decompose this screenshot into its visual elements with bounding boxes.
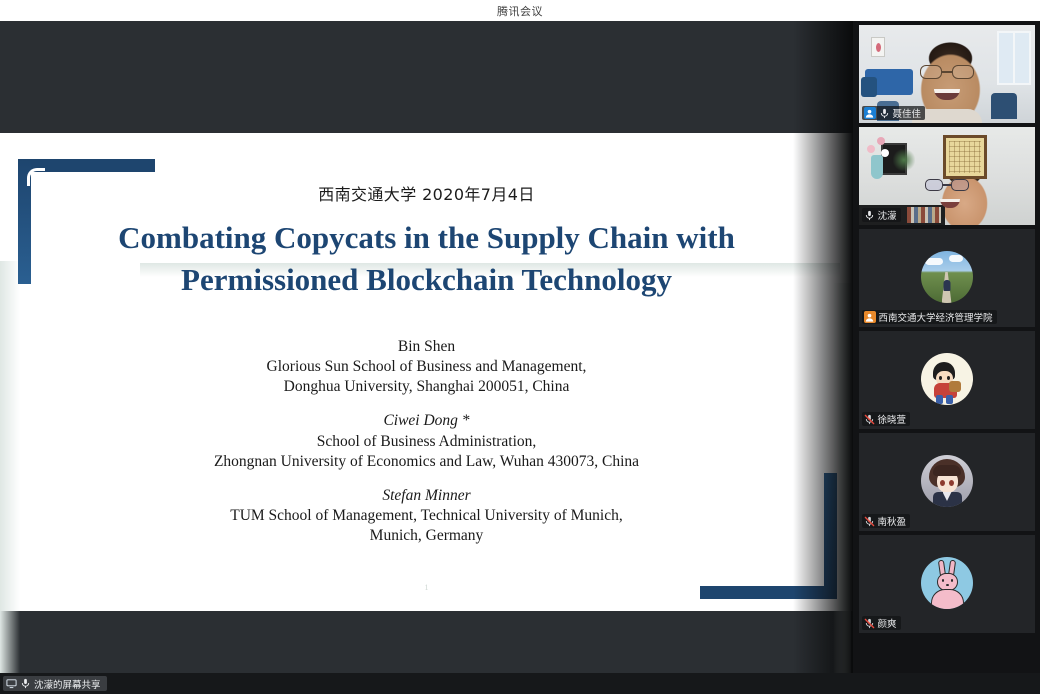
- status-bar: 沈濛的屏幕共享: [0, 673, 1040, 694]
- participant-tile[interactable]: 聂佳佳: [859, 25, 1035, 123]
- screen-share-label: 沈濛的屏幕共享: [34, 677, 101, 691]
- participant-tile[interactable]: 南秋盈: [859, 433, 1035, 531]
- author-name: Stefan Minner: [40, 486, 813, 506]
- participant-video-rail[interactable]: 聂佳佳 沈濛: [853, 21, 1040, 673]
- slide-title-line-2: Permissioned Blockchain Technology: [60, 259, 793, 301]
- slide-date-line: 西南交通大学 2020年7月4日: [0, 181, 853, 205]
- participant-nameplate: 徐晓萱: [862, 412, 911, 426]
- microphone-icon: [864, 210, 875, 221]
- screen-share-icon: [6, 678, 17, 689]
- person-icon: [864, 107, 876, 119]
- participant-tile[interactable]: 颜爽: [859, 535, 1035, 633]
- shared-screen-stage[interactable]: 西南交通大学 2020年7月4日 Combating Copycats in t…: [0, 21, 853, 673]
- microphone-muted-icon: [864, 516, 875, 527]
- meeting-window: 腾讯会议 西南交通大学 2020年7月4日 Combating Copycats…: [0, 0, 1040, 694]
- author-block: Bin Shen Glorious Sun School of Business…: [40, 337, 813, 397]
- microphone-icon: [879, 108, 890, 119]
- slide-title-line-1: Combating Copycats in the Supply Chain w…: [60, 217, 793, 259]
- microphone-icon: [20, 678, 31, 689]
- app-title: 腾讯会议: [497, 3, 543, 19]
- participant-name: 徐晓萱: [878, 412, 907, 426]
- participant-tile[interactable]: 西南交通大学经济管理学院: [859, 229, 1035, 327]
- author-affiliation-line: Glorious Sun School of Business and Mana…: [40, 357, 813, 377]
- avatar: [921, 557, 973, 609]
- participant-name: 聂佳佳: [893, 106, 922, 120]
- slide-page-number: 1: [0, 583, 853, 592]
- slide-author-list: Bin Shen Glorious Sun School of Business…: [40, 337, 813, 560]
- person-icon: [864, 311, 876, 323]
- avatar: [921, 455, 973, 507]
- participant-tile[interactable]: 徐晓萱: [859, 331, 1035, 429]
- participant-name: 沈濛: [878, 208, 897, 222]
- microphone-muted-icon: [864, 414, 875, 425]
- participant-name: 颜爽: [878, 616, 897, 630]
- slide-title: Combating Copycats in the Supply Chain w…: [60, 217, 793, 301]
- participant-nameplate: 颜爽: [862, 616, 901, 630]
- slide-shadow-left: [0, 261, 20, 694]
- screen-share-indicator[interactable]: 沈濛的屏幕共享: [3, 676, 107, 691]
- participant-nameplate: 西南交通大学经济管理学院: [862, 310, 997, 324]
- avatar: [921, 353, 973, 405]
- author-affiliation-line: TUM School of Management, Technical Univ…: [40, 506, 813, 526]
- author-block: Ciwei Dong * School of Business Administ…: [40, 411, 813, 471]
- author-name: Ciwei Dong *: [40, 411, 813, 431]
- participant-nameplate: 南秋盈: [862, 514, 911, 528]
- participant-nameplate: 沈濛: [862, 208, 901, 222]
- author-affiliation-line: Donghua University, Shanghai 200051, Chi…: [40, 377, 813, 397]
- participant-nameplate: 聂佳佳: [862, 106, 926, 120]
- participant-name: 南秋盈: [878, 514, 907, 528]
- window-title-bar: 腾讯会议: [0, 0, 1040, 21]
- microphone-muted-icon: [864, 618, 875, 629]
- author-block: Stefan Minner TUM School of Management, …: [40, 486, 813, 546]
- participant-name: 西南交通大学经济管理学院: [879, 310, 993, 324]
- author-affiliation-line: Zhongnan University of Economics and Law…: [40, 452, 813, 472]
- participant-tile[interactable]: 沈濛: [859, 127, 1035, 225]
- author-affiliation-line: School of Business Administration,: [40, 432, 813, 452]
- avatar: [921, 251, 973, 303]
- slide-corner-bracket-bottom-right-vertical: [824, 473, 837, 599]
- author-name: Bin Shen: [40, 337, 813, 357]
- author-affiliation-line: Munich, Germany: [40, 526, 813, 546]
